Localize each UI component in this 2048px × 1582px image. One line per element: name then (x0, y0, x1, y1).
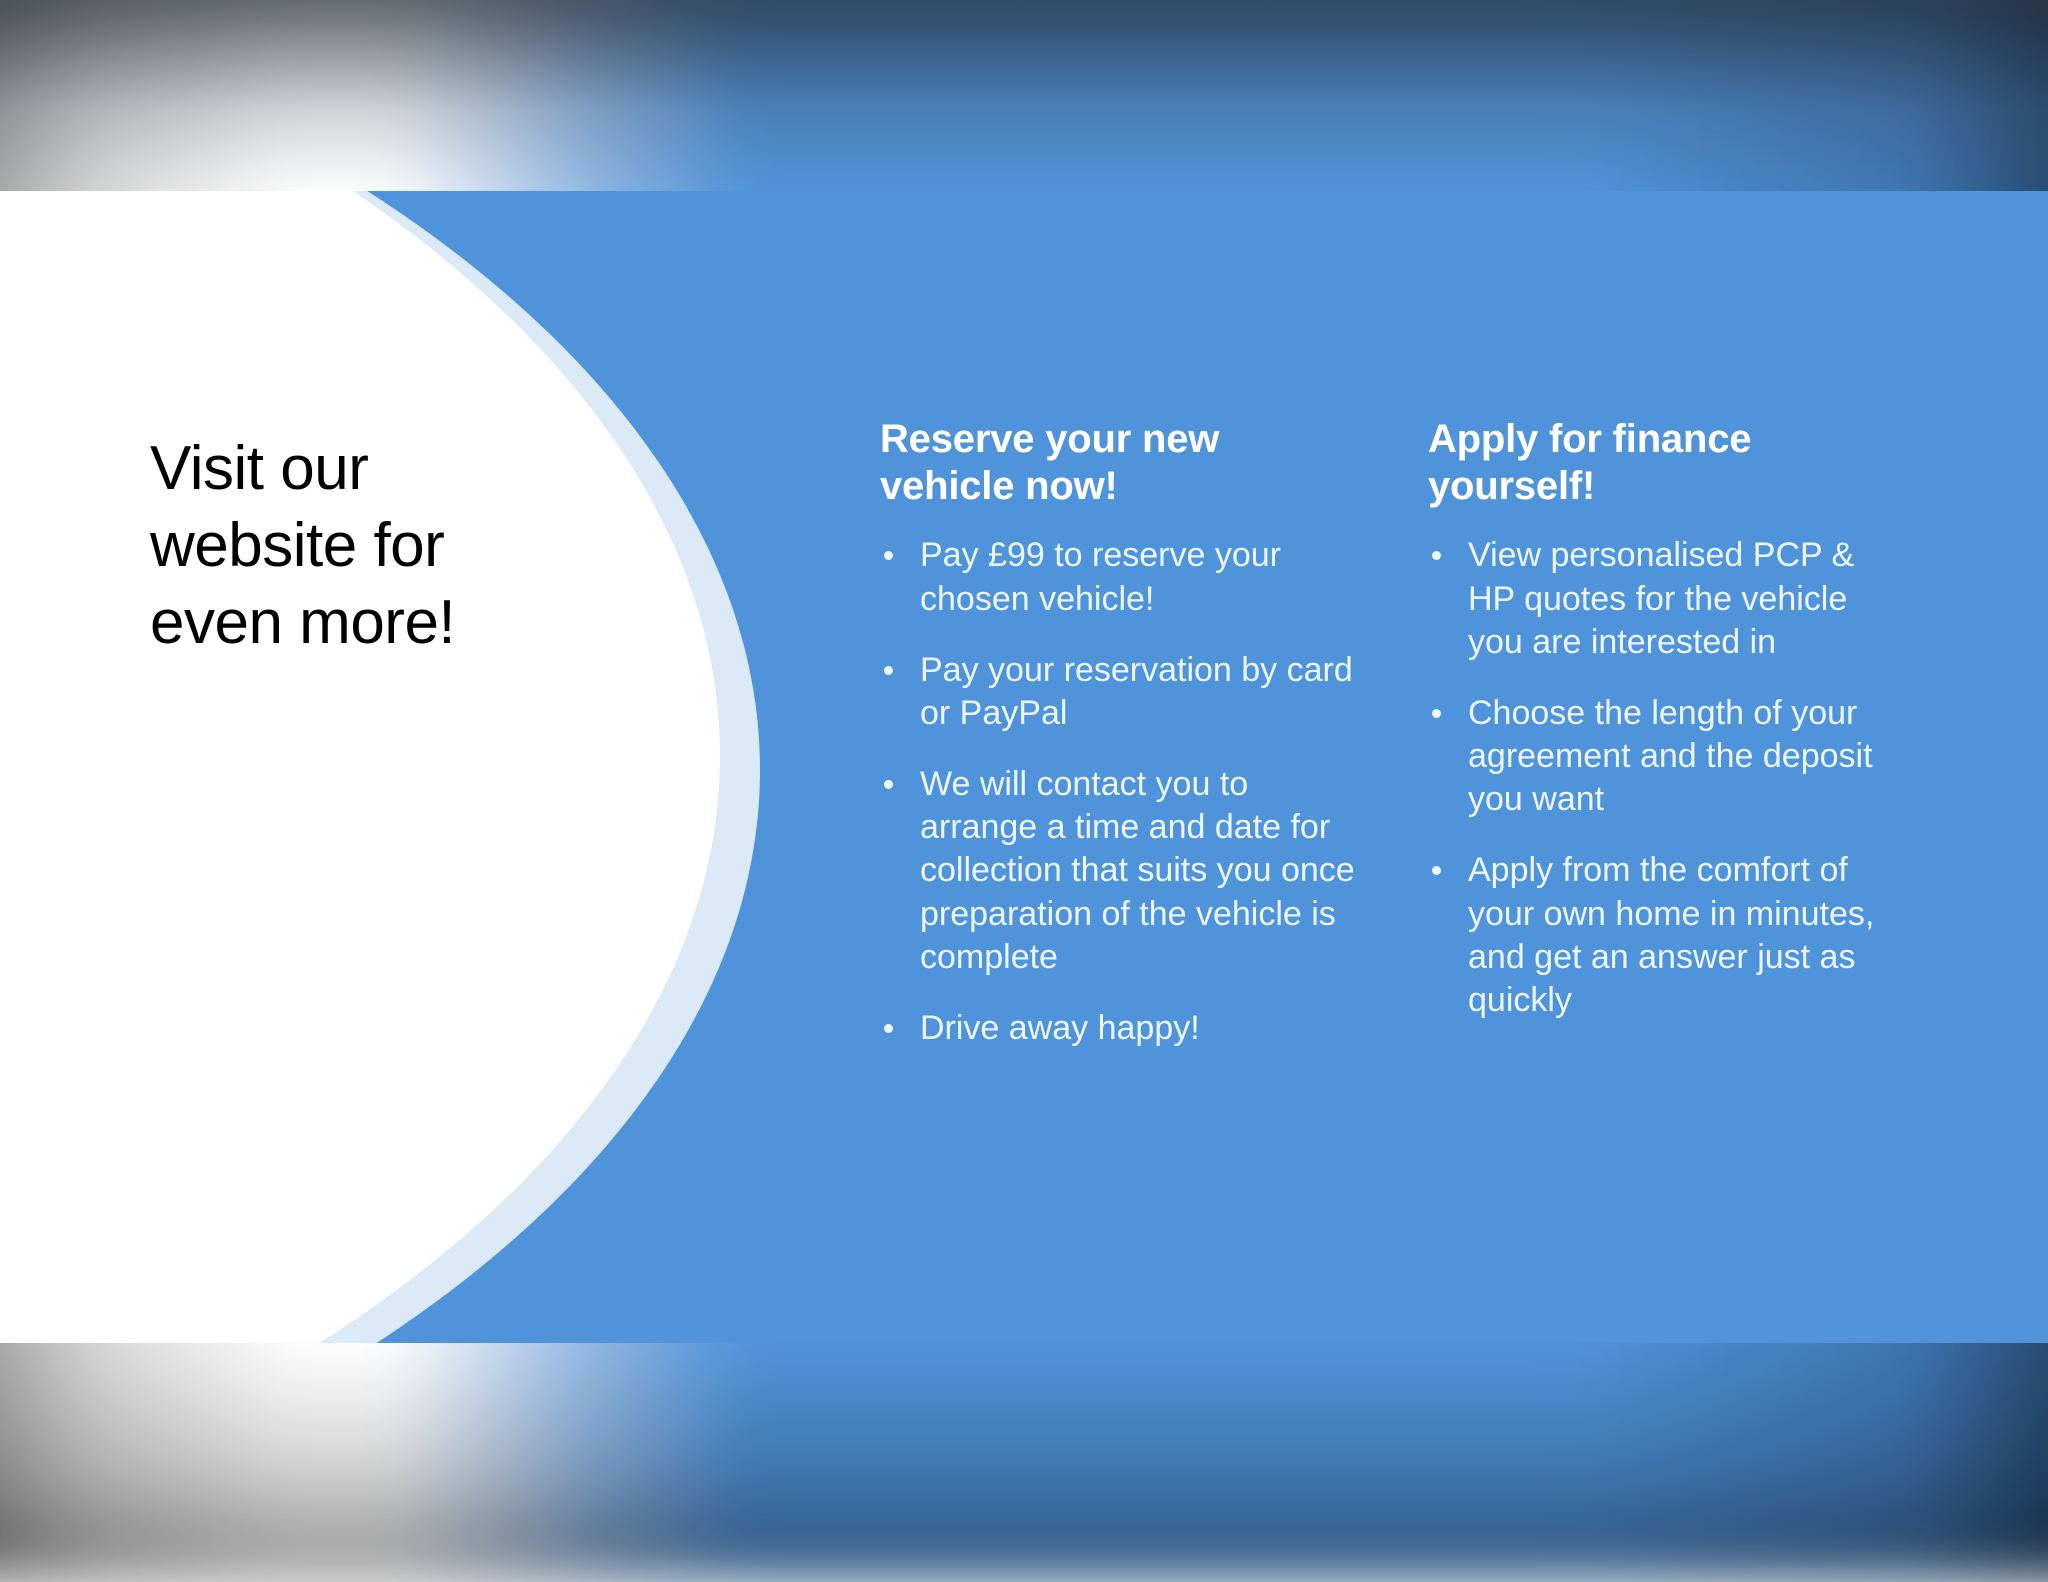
list-item-text: Choose the length of your agreement and … (1468, 694, 1873, 818)
list-item: Apply from the comfort of your own home … (1428, 849, 1908, 1022)
bullet-dot-icon (884, 666, 893, 675)
list-item: Pay your reservation by card or PayPal (880, 649, 1360, 735)
presentation-slide: Visit our website for even more! Reserve… (0, 191, 2048, 1343)
bullet-dot-icon (884, 1024, 893, 1033)
list-item-text: View personalised PCP & HP quotes for th… (1468, 536, 1854, 660)
column-reserve: Reserve your new vehicle now! Pay £99 to… (880, 416, 1360, 1050)
bullet-list-finance: View personalised PCP & HP quotes for th… (1428, 534, 1908, 1022)
list-item-text: Apply from the comfort of your own home … (1468, 851, 1874, 1019)
column-title-finance: Apply for finance yourself! (1428, 416, 1908, 510)
bullet-list-reserve: Pay £99 to reserve your chosen vehicle! … (880, 534, 1360, 1050)
list-item-text: We will contact you to arrange a time an… (920, 765, 1355, 976)
content-columns: Reserve your new vehicle now! Pay £99 to… (880, 416, 1990, 1050)
list-item: We will contact you to arrange a time an… (880, 763, 1360, 979)
white-curve-panel (0, 191, 720, 1343)
column-finance: Apply for finance yourself! View persona… (1428, 416, 1908, 1050)
list-item: Drive away happy! (880, 1007, 1360, 1050)
slide-headline: Visit our website for even more! (150, 431, 570, 662)
bullet-dot-icon (1432, 866, 1441, 875)
list-item: Choose the length of your agreement and … (1428, 692, 1908, 822)
bullet-dot-icon (884, 780, 893, 789)
list-item-text: Pay your reservation by card or PayPal (920, 651, 1353, 732)
column-title-reserve: Reserve your new vehicle now! (880, 416, 1360, 510)
bullet-dot-icon (1432, 551, 1441, 560)
list-item-text: Pay £99 to reserve your chosen vehicle! (920, 536, 1281, 617)
bullet-dot-icon (884, 551, 893, 560)
list-item: View personalised PCP & HP quotes for th… (1428, 534, 1908, 664)
list-item: Pay £99 to reserve your chosen vehicle! (880, 534, 1360, 620)
bullet-dot-icon (1432, 709, 1441, 718)
list-item-text: Drive away happy! (920, 1009, 1200, 1047)
